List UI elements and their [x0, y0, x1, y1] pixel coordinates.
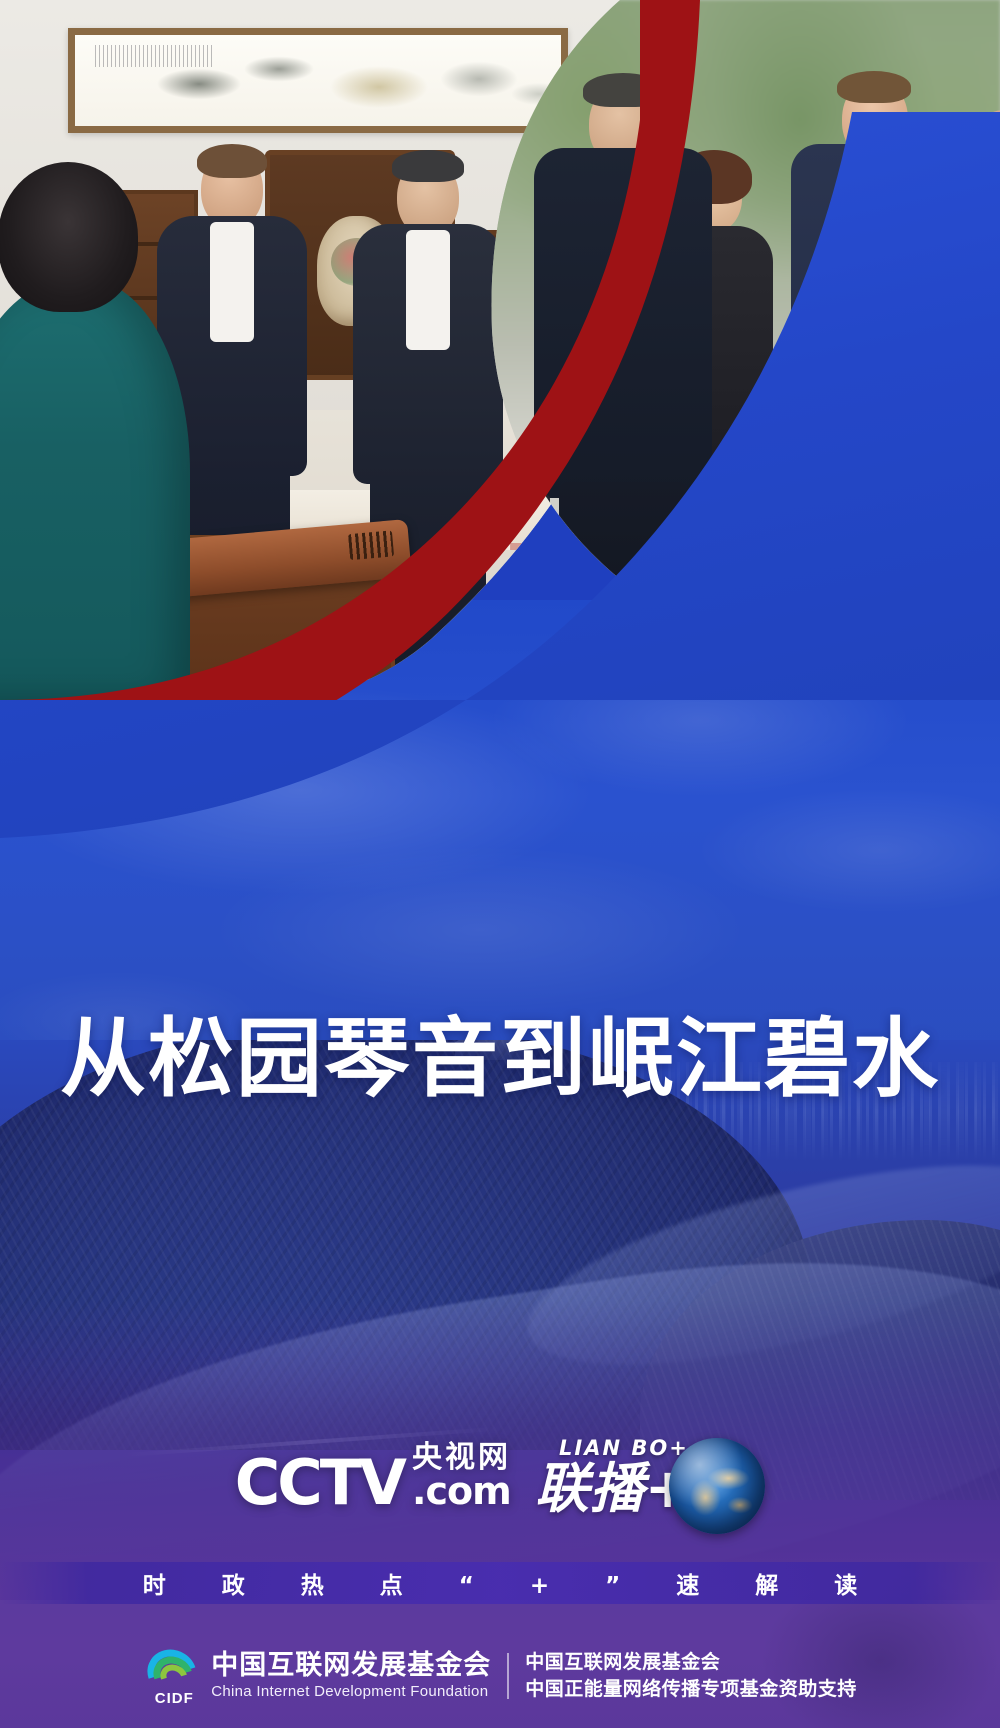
cctv-domain: .com [412, 1472, 511, 1510]
fund-credit-line-2: 中国正能量网络传播专项基金资助支持 [525, 1678, 857, 1701]
page-title: 从松园琴音到岷江碧水 [0, 1016, 1000, 1102]
brand-logo-row: CCTV 央视网 .com LIAN BO+ 联播+ [0, 1420, 1000, 1532]
poster-root: 从松园琴音到岷江碧水 CCTV 央视网 .com LIAN BO+ 联播+ 时 … [0, 0, 1000, 1728]
globe-icon [669, 1438, 765, 1534]
cctv-wordmark: CCTV [235, 1457, 404, 1510]
lianbo-chinese: 联播+ [535, 1462, 691, 1516]
cidf-chinese-name: 中国互联网发展基金会 [211, 1651, 491, 1681]
fund-credit: 中国互联网发展基金会 中国正能量网络传播专项基金资助支持 [525, 1651, 857, 1700]
cidf-english-name: China Internet Development Foundation [211, 1683, 491, 1701]
cidf-abbreviation: CIDF [145, 1690, 203, 1707]
cctv-logo[interactable]: CCTV 央视网 .com [235, 1442, 511, 1510]
cidf-logo[interactable]: CIDF 中国互联网发展基金会 China Internet Developme… [143, 1648, 491, 1704]
footer-divider [507, 1653, 509, 1699]
lianbo-logo[interactable]: LIAN BO+ 联播+ [535, 1436, 765, 1516]
cidf-wave-icon: CIDF [143, 1648, 201, 1704]
sponsor-footer: CIDF 中国互联网发展基金会 China Internet Developme… [0, 1636, 1000, 1716]
slogan-text: 时 政 热 点 “ + ” 速 解 读 [119, 1566, 882, 1600]
slogan-bar: 时 政 热 点 “ + ” 速 解 读 [0, 1562, 1000, 1604]
fund-credit-line-1: 中国互联网发展基金会 [525, 1651, 857, 1674]
